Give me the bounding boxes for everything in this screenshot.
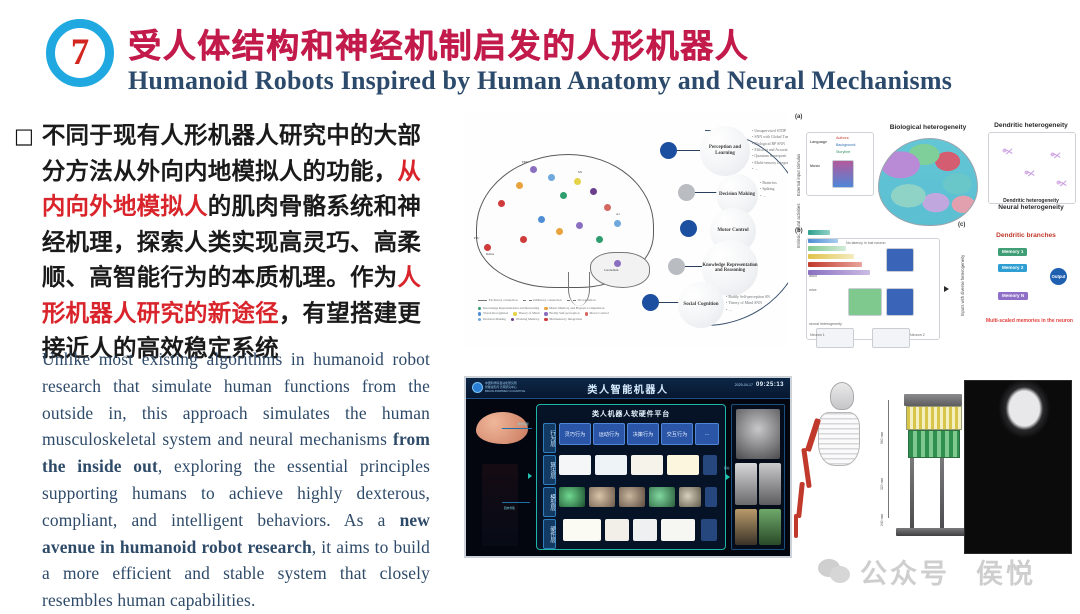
row-label-model: 模型层	[543, 487, 556, 517]
brain-connector-label: 神经机理	[518, 422, 529, 426]
clock-time: 09:25:13	[756, 382, 784, 388]
region-label: Cerebellum	[604, 268, 618, 272]
network-node	[614, 220, 621, 227]
page-title-chinese: 受人体结构和神经机制启发的人形机器人	[128, 19, 749, 67]
text-column: □ 不同于现有人形机器人研究中的大部分方法从外向内地模拟人的功能，从内向外地模拟…	[0, 110, 460, 608]
stimulus-example: Authors:	[836, 136, 849, 140]
hardware-thumb[interactable]	[605, 519, 629, 541]
bullet-list-perception: Unsupervised STDP SNN with Global Tue Bi…	[752, 128, 788, 172]
neuron-glyph	[996, 142, 1013, 159]
legend-line-label: Inhibitory connection	[533, 298, 561, 304]
hub-node-motor	[680, 220, 697, 237]
legend-item-label: Decision Making	[483, 317, 506, 323]
output-node: Output	[1050, 268, 1067, 285]
screen-clock: 2025-04-17 09:25:13	[735, 382, 784, 388]
robot-detail-thumb[interactable]	[759, 509, 781, 545]
label-neuron-1: Neuron 1	[810, 333, 825, 337]
model-thumb[interactable]	[619, 487, 645, 507]
bubble-label: Perception and Learning	[700, 145, 750, 156]
connector-line	[502, 428, 532, 429]
control-board-module	[908, 430, 960, 458]
region-label: PMC	[522, 160, 529, 164]
hub-node-decision	[678, 184, 695, 201]
network-node	[614, 260, 621, 267]
watermark-text-secondary: 侯悦	[976, 552, 1036, 591]
label-language: Language	[810, 140, 827, 144]
bubble-label: Knowledge Representation and Reasoning	[702, 263, 758, 274]
network-node	[590, 188, 597, 195]
behavior-tile[interactable]: 运动行为	[593, 423, 625, 445]
bullet-square-icon: □	[14, 118, 34, 367]
legend-line-label: Excitatory connection	[489, 298, 518, 304]
neuron-glyph	[1044, 146, 1061, 163]
neuron-glyph	[1018, 164, 1035, 181]
section-number: 7	[71, 34, 90, 71]
row-label-hardware: 硬件层	[543, 519, 556, 549]
chinese-text-run: 不同于现有人形机器人研究中的大部分方法从外向内地模拟人的功能，	[42, 122, 421, 184]
actuator-array	[906, 406, 962, 430]
connector-line	[502, 502, 530, 503]
platform-panel: 类人机器人软硬件平台 行为层 算法层 模型层 硬件层 灵巧行为 运动行为 决策行…	[536, 404, 726, 550]
figure-biological-heterogeneity: (a) Biological heterogeneity Dendritic h…	[792, 112, 1078, 348]
network-node	[574, 178, 581, 185]
stimulus-example: Storyline:	[836, 150, 851, 154]
network-node	[576, 222, 583, 229]
page-title-english: Humanoid Robots Inspired by Human Anatom…	[128, 66, 952, 96]
flow-arrow-icon	[944, 286, 949, 292]
figure-robot-control-screen: 中国科学院自动化研究所 智能感知与计算研究中心 BRAIN-INSPIRED C…	[464, 376, 792, 558]
hub-node-perception	[660, 142, 677, 159]
region-label: A1	[616, 212, 620, 216]
robot-head-thumb[interactable]	[736, 409, 780, 459]
humanoid-torso-photo	[964, 380, 1072, 554]
slide-header: 7 受人体结构和神经机制启发的人形机器人 Humanoid Robots Ins…	[0, 0, 1080, 104]
ribcage-shape	[818, 412, 860, 466]
label-mice: mice	[809, 288, 817, 292]
figure-musculoskeletal-robot: 560 mm 320 mm 240 mm	[792, 372, 1078, 558]
trace-thumb	[872, 328, 910, 348]
brain-parcellation-map	[878, 138, 978, 226]
memory-tag: Memory 1	[998, 248, 1027, 256]
hardware-more[interactable]	[701, 519, 717, 541]
hardware-thumb[interactable]	[563, 519, 601, 541]
robot-detail-thumb[interactable]	[735, 509, 757, 545]
legend-item-label: Multisensory Integration	[549, 317, 582, 323]
legend-item-label: Working Memory	[516, 317, 540, 323]
algorithm-thumb[interactable]	[595, 455, 627, 475]
network-node	[498, 200, 505, 207]
axis-label-intrinsic-activity: Intrinsic neural activities	[796, 196, 801, 248]
flow-arrow-icon	[726, 474, 730, 480]
flow-arrow-icon	[528, 473, 532, 479]
algorithm-thumb[interactable]	[631, 455, 663, 475]
bubble-social-cognition: Social Cognition	[678, 282, 724, 328]
wechat-icon	[818, 559, 852, 585]
title-dendritic-branches: Dendritic branches	[988, 232, 1064, 239]
english-text-run: Unlike most existing algorithms in human…	[42, 349, 430, 449]
network-node	[596, 236, 603, 243]
network-node	[604, 204, 611, 211]
model-thumb[interactable]	[589, 487, 615, 507]
support-base	[896, 528, 968, 536]
muscle-strand	[796, 482, 805, 518]
axis-label-diverse-inputs: Inputs with diverse heterogeneity	[960, 244, 965, 316]
label-neuron-2: Neuron 2	[910, 333, 925, 337]
figure-legend: Excitatory connection Inhibitory connect…	[478, 298, 678, 322]
title-neural-heterogeneity: Neural heterogeneity	[988, 204, 1074, 211]
model-block	[886, 248, 914, 272]
title-dendritic-heterogeneity: Dendritic heterogeneity	[988, 122, 1074, 129]
network-node	[548, 174, 555, 181]
network-node	[556, 228, 563, 235]
bullet-paragraph: □ 不同于现有人形机器人研究中的大部分方法从外向内地模拟人的功能，从内向外地模拟…	[14, 118, 454, 367]
row-label-algorithm: 算法层	[543, 455, 556, 485]
hub-node-knowledge	[668, 258, 685, 275]
hardware-thumb[interactable]	[633, 519, 657, 541]
neuron-glyph	[1050, 174, 1067, 191]
network-node	[538, 216, 545, 223]
panel-tag-a: (a)	[795, 114, 802, 120]
watermark: 公众号 侯悦	[818, 552, 1036, 591]
robot-preview-column	[731, 404, 785, 550]
stimulus-example: Background:	[836, 143, 856, 147]
english-body-text: Unlike most existing algorithms in human…	[42, 346, 430, 614]
panel-tag-b: (b)	[795, 228, 803, 234]
robot-body-thumb[interactable]	[759, 463, 781, 505]
caption-no-latency: No latency in lost neuron	[846, 241, 886, 245]
hand-bones	[794, 514, 798, 538]
network-node	[560, 192, 567, 199]
bubble-perception-learning: Perception and Learning	[700, 126, 750, 176]
robot-arm-prototype	[884, 380, 976, 552]
bubble-label: Motor Control	[717, 228, 748, 234]
note-multi-scaled-memories: Multi-scaled memories in the neuron	[986, 318, 1073, 324]
bubble-label: Decision Making	[719, 192, 755, 198]
figure-brain-cognitive-roadmap: Perception and Learning Unsupervised STD…	[464, 112, 788, 348]
platform-panel-title: 类人机器人软硬件平台	[537, 409, 725, 419]
algorithm-thumb[interactable]	[559, 455, 591, 475]
chinese-body-text: 不同于现有人形机器人研究中的大部分方法从外向内地模拟人的功能，从内向外地模拟人的…	[42, 118, 442, 367]
network-node	[520, 236, 527, 243]
watermark-text-primary: 公众号	[860, 552, 950, 591]
network-node	[530, 166, 537, 173]
network-node	[484, 244, 491, 251]
memory-tag: Memory N	[998, 292, 1028, 300]
model-thumb[interactable]	[649, 487, 675, 507]
support-post	[910, 458, 914, 528]
panel-tag-c: (c)	[958, 222, 965, 228]
section-number-badge: 7	[46, 19, 114, 87]
algorithm-thumb[interactable]	[667, 455, 699, 475]
model-more[interactable]	[705, 487, 717, 507]
drive-label: 驱动	[724, 466, 729, 470]
spectrogram-thumb	[832, 160, 854, 188]
region-label: M1	[578, 170, 582, 174]
region-label: Retina	[486, 252, 494, 256]
row-label-behavior: 行为层	[543, 423, 556, 453]
skull-shape	[830, 382, 854, 410]
model-thumb[interactable]	[559, 487, 585, 507]
axis-label-external-stimulus: External input stimulus	[796, 138, 801, 196]
activity-bar	[808, 230, 830, 235]
robot-body-thumb[interactable]	[735, 463, 757, 505]
title-biological-heterogeneity: Biological heterogeneity	[868, 124, 988, 131]
label-music: Music	[810, 164, 820, 168]
algorithm-more[interactable]	[703, 455, 717, 475]
legend-line-label: 3D regulation	[577, 298, 595, 304]
support-post	[940, 458, 944, 528]
behavior-tile[interactable]: 决策行为	[627, 423, 659, 445]
legend-item-label: Motor Control	[589, 311, 608, 317]
memory-tag: Memory 2	[998, 264, 1027, 272]
bubble-label: Social Cognition	[683, 302, 718, 308]
network-node	[516, 182, 523, 189]
label-neural-heterogeneity: neural heterogeneity	[809, 322, 842, 326]
behavior-tile-more[interactable]: …	[695, 423, 719, 445]
region-label: PFC	[474, 236, 480, 240]
label-adult: adult	[809, 274, 817, 278]
behavior-tile[interactable]: 灵巧行为	[559, 423, 591, 445]
clock-date: 2025-04-17	[735, 383, 753, 387]
mounting-plate	[904, 394, 962, 406]
bullet-list-social: Bodily Self-perception SN Theory of Mind…	[726, 294, 776, 313]
model-thumb[interactable]	[679, 487, 701, 507]
body-connector-label: 肌肉骨骼	[504, 506, 515, 510]
title-dendritic-heterogeneity-2: Dendritic heterogeneity	[988, 198, 1074, 204]
bullet-list-decision: Brain-ins Spiking …	[760, 180, 788, 199]
model-block	[848, 288, 882, 316]
human-body-render	[482, 464, 518, 546]
behavior-tile[interactable]: 交互行为	[661, 423, 693, 445]
model-block	[886, 288, 914, 316]
trace-thumb	[816, 328, 854, 348]
hardware-thumb[interactable]	[661, 519, 695, 541]
human-skeleton-diagram	[792, 382, 884, 552]
